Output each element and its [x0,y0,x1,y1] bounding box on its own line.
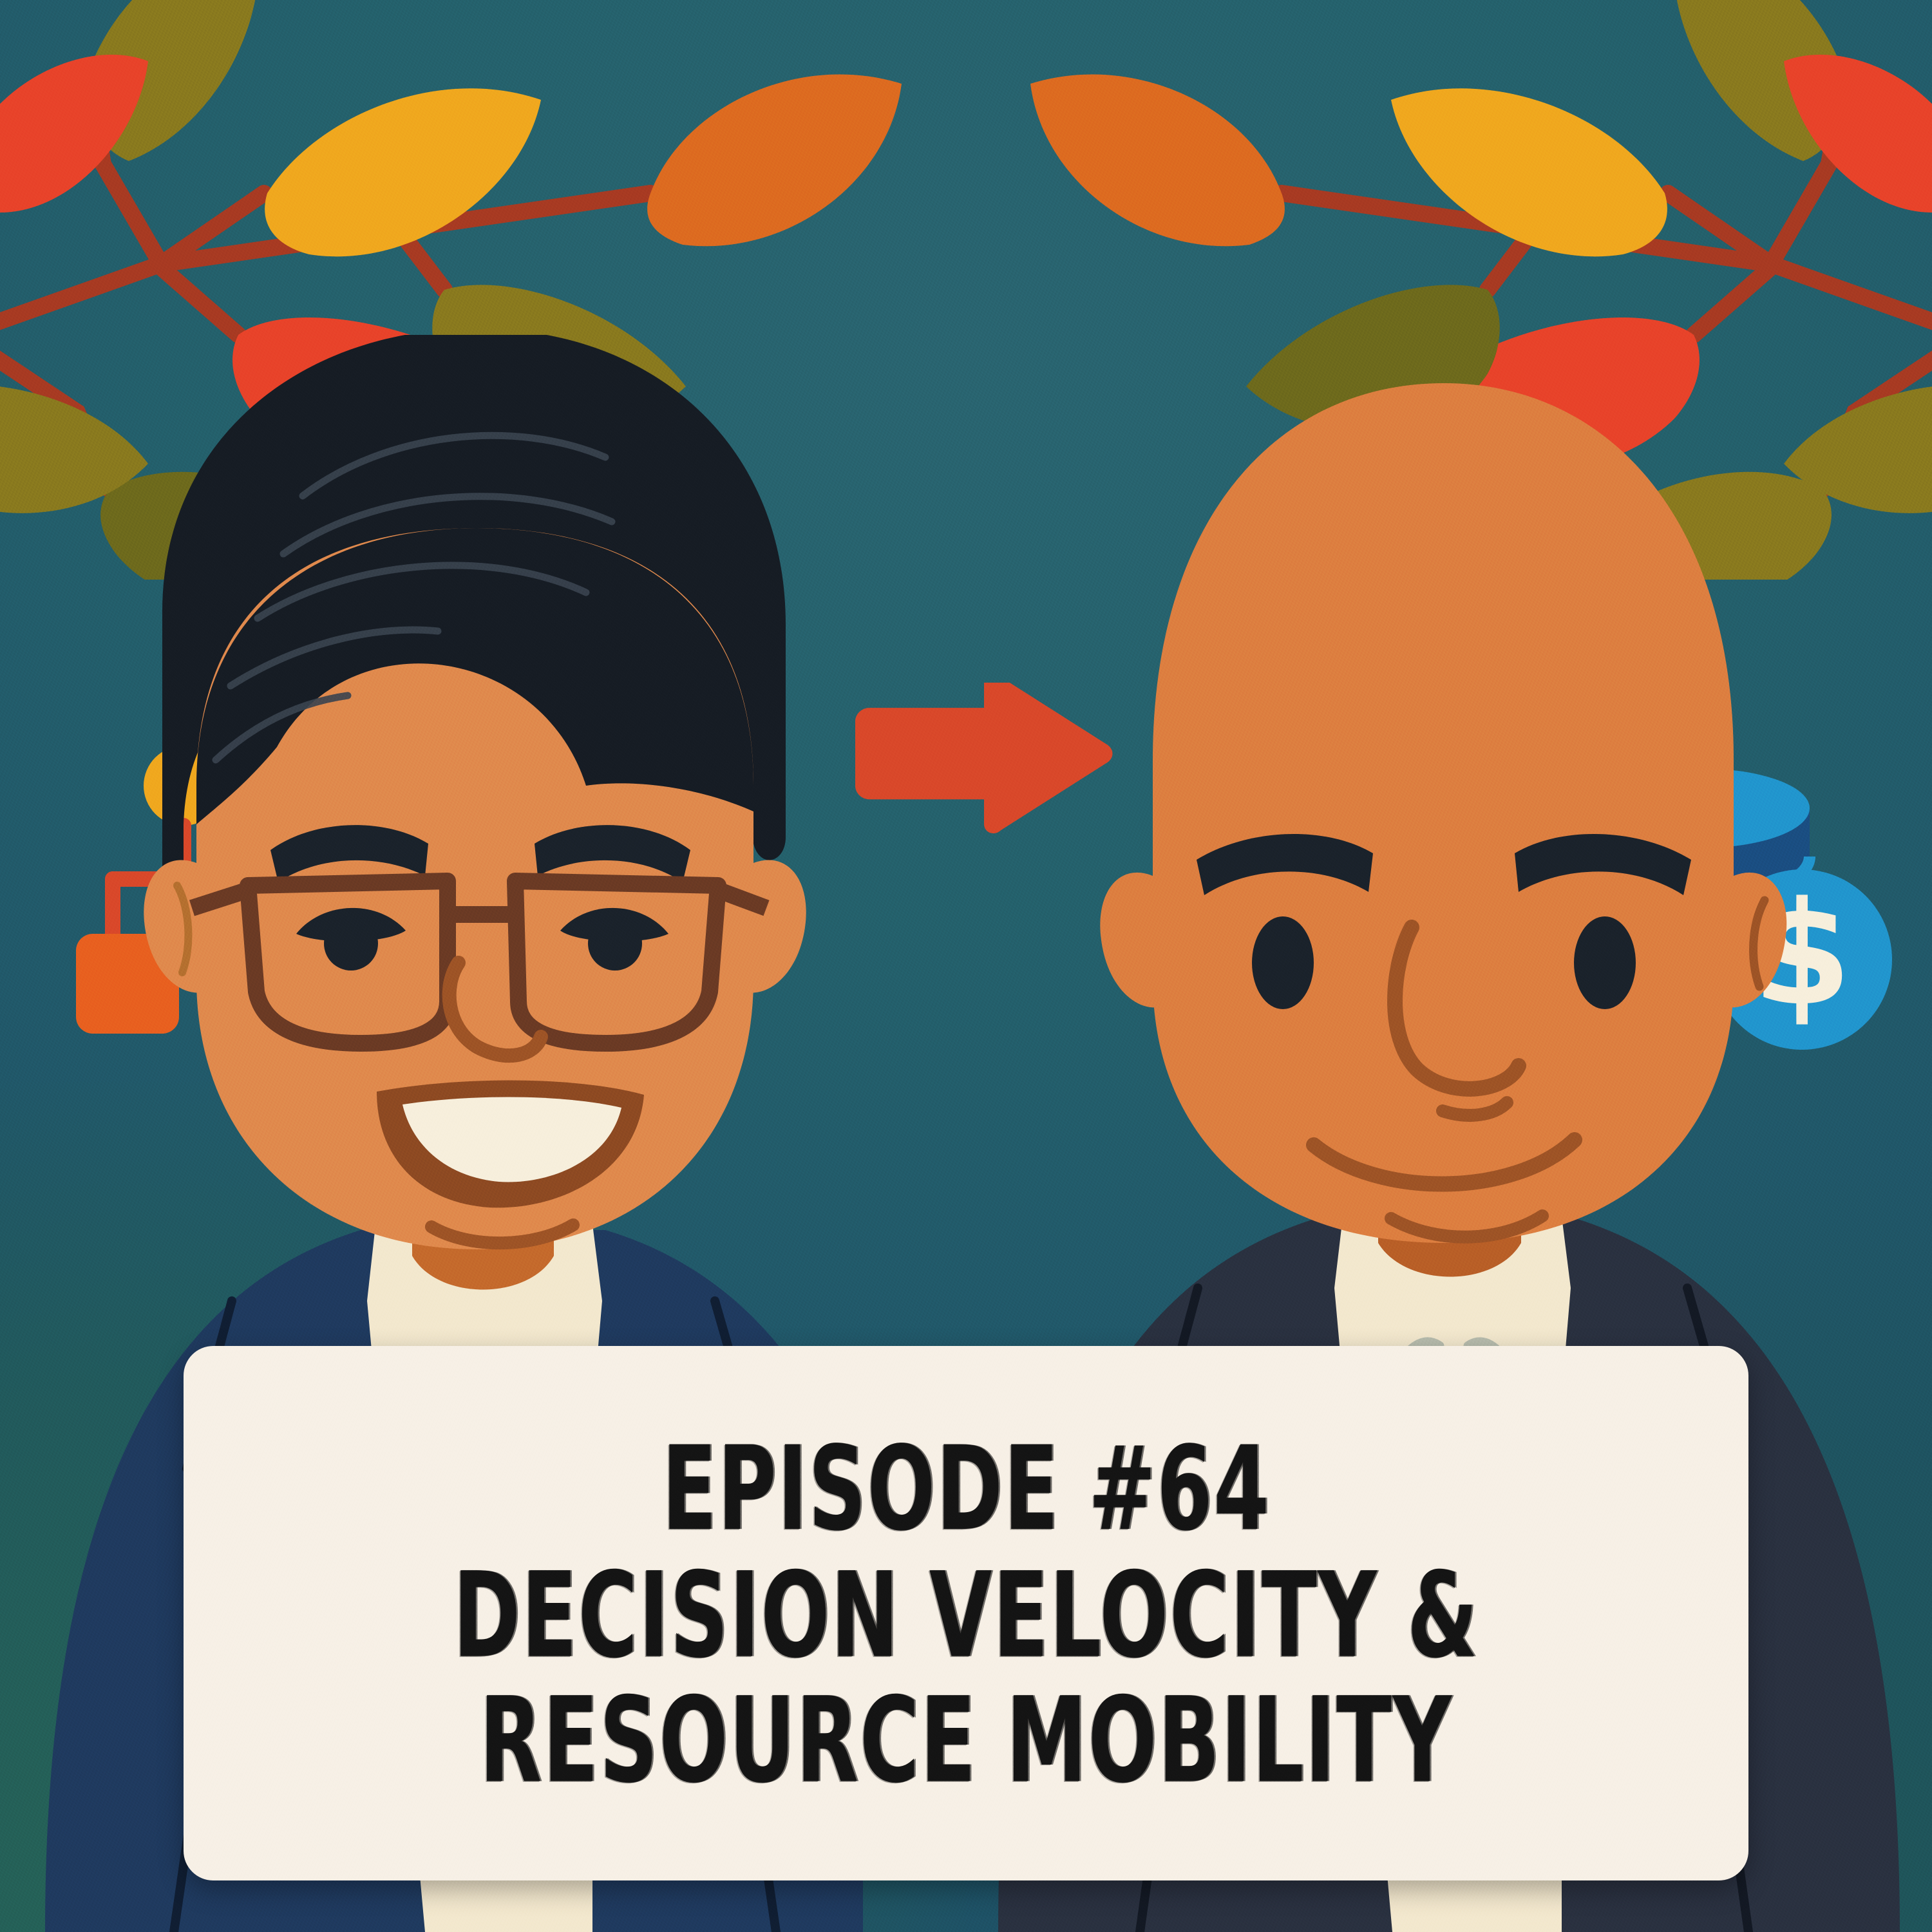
leaf [265,88,541,256]
episode-title-label: DECISION VELOCITY & RESOURCE MOBILITY [357,1554,1575,1804]
podcast-cover-art: $ [0,0,1932,1932]
leaf [1030,75,1285,247]
episode-number-label: EPISODE #64 [662,1427,1271,1550]
leaf [647,75,902,247]
right-arrow-icon [837,683,1121,837]
leaf [1391,88,1667,256]
title-banner: EPISODE #64 DECISION VELOCITY & RESOURCE… [184,1346,1748,1880]
host-left-ear [744,860,806,993]
host-left-ear [144,860,206,993]
